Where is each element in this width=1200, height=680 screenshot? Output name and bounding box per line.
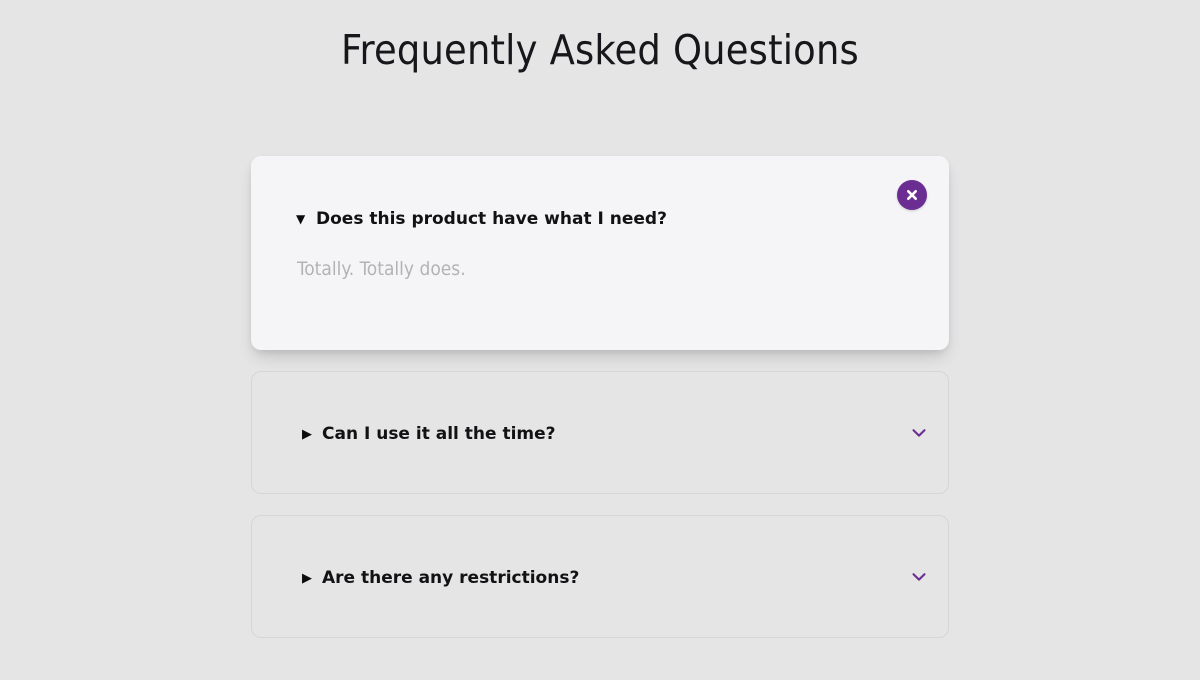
faq-question-row[interactable]: ▼ Does this product have what I need? [296,208,667,230]
chevron-down-icon [911,571,927,583]
faq-item-collapsed[interactable]: ▶ Can I use it all the time? [251,371,949,494]
faq-question-text: Can I use it all the time? [322,423,556,445]
close-icon [904,187,920,203]
faq-answer-text: Totally. Totally does. [297,257,466,281]
faq-question-text: Does this product have what I need? [316,208,667,230]
triangle-right-marker: ▶ [302,428,313,441]
faq-question-row[interactable]: ▶ Can I use it all the time? [302,423,556,445]
triangle-right-marker: ▶ [302,572,313,585]
chevron-down-icon [911,427,927,439]
triangle-down-marker: ▼ [296,213,307,225]
faq-question-row[interactable]: ▶ Are there any restrictions? [302,567,579,589]
expand-toggle-button[interactable] [906,420,932,446]
close-button[interactable] [897,180,927,210]
faq-accordion: ▼ Does this product have what I need? To… [251,156,949,659]
expand-toggle-button[interactable] [906,564,932,590]
faq-item-expanded[interactable]: ▼ Does this product have what I need? To… [251,156,949,350]
page-title: Frequently Asked Questions [0,0,1200,78]
faq-question-text: Are there any restrictions? [322,567,579,589]
faq-item-collapsed[interactable]: ▶ Are there any restrictions? [251,515,949,638]
